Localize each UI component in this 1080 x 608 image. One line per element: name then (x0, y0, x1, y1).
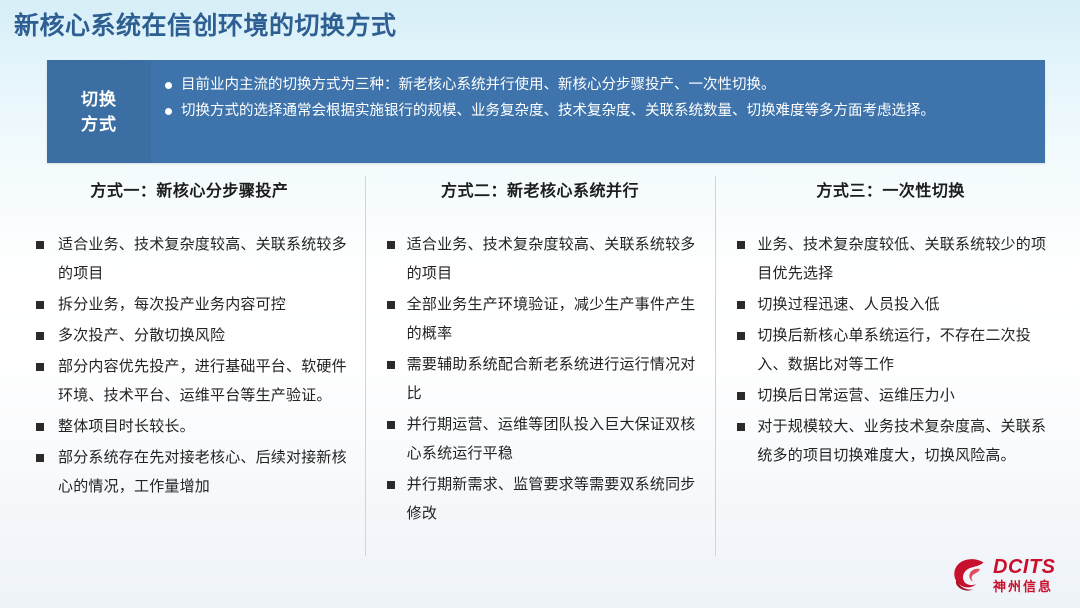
column-method-three: 方式三：一次性切换 业务、技术复杂度较低、关联系统较少的项目优先选择 切换过程迅… (715, 176, 1066, 558)
column-method-one: 方式一：新核心分步骤投产 适合业务、技术复杂度较高、关联系统较多的项目 拆分业务… (14, 176, 365, 558)
callout-label-line2: 方式 (81, 112, 117, 137)
logo-en-text: DCITS (993, 557, 1068, 577)
square-bullet-icon (737, 392, 745, 400)
slide-canvas: 新核心系统在信创环境的切换方式 切换 方式 目前业内主流的切换方式为三种：新老核… (0, 0, 1080, 608)
square-bullet-icon (36, 454, 44, 462)
list-item-text: 整体项目时长较长。 (58, 418, 195, 435)
callout-item-text: 切换方式的选择通常会根据实施银行的规模、业务复杂度、技术复杂度、关联系统数量、切… (181, 99, 1027, 124)
bullet-list: 业务、技术复杂度较低、关联系统较少的项目优先选择 切换过程迅速、人员投入低 切换… (731, 230, 1050, 470)
square-bullet-icon (36, 301, 44, 309)
square-bullet-icon (737, 332, 745, 340)
column-title: 方式一：新核心分步骤投产 (30, 180, 349, 204)
square-bullet-icon (737, 241, 745, 249)
square-bullet-icon (387, 481, 395, 489)
bullet-dot-icon (165, 82, 172, 89)
list-item-text: 多次投产、分散切换风险 (58, 327, 225, 344)
square-bullet-icon (36, 423, 44, 431)
list-item-text: 切换后新核心单系统运行，不存在二次投入、数据比对等工作 (757, 327, 1031, 373)
page-title: 新核心系统在信创环境的切换方式 (14, 9, 397, 43)
list-item: 切换后日常运营、运维压力小 (731, 381, 1050, 410)
callout-item: 切换方式的选择通常会根据实施银行的规模、业务复杂度、技术复杂度、关联系统数量、切… (165, 99, 1027, 124)
list-item: 需要辅助系统配合新老系统进行运行情况对比 (381, 350, 700, 408)
comparison-columns: 方式一：新核心分步骤投产 适合业务、技术复杂度较高、关联系统较多的项目 拆分业务… (14, 176, 1066, 558)
list-item: 并行期新需求、监管要求等需要双系统同步修改 (381, 470, 700, 528)
bullet-list: 适合业务、技术复杂度较高、关联系统较多的项目 拆分业务，每次投产业务内容可控 多… (30, 230, 349, 501)
square-bullet-icon (387, 301, 395, 309)
list-item-text: 切换后日常运营、运维压力小 (757, 387, 955, 404)
list-item: 业务、技术复杂度较低、关联系统较少的项目优先选择 (731, 230, 1050, 288)
square-bullet-icon (387, 241, 395, 249)
list-item-text: 并行期新需求、监管要求等需要双系统同步修改 (407, 476, 696, 522)
list-item: 整体项目时长较长。 (30, 412, 349, 441)
list-item-text: 适合业务、技术复杂度较高、关联系统较多的项目 (58, 236, 347, 282)
list-item: 切换后新核心单系统运行，不存在二次投入、数据比对等工作 (731, 321, 1050, 379)
list-item: 全部业务生产环境验证，减少生产事件产生的概率 (381, 290, 700, 348)
list-item: 适合业务、技术复杂度较高、关联系统较多的项目 (381, 230, 700, 288)
logo-text: DCITS 神州信息 (990, 557, 1068, 593)
square-bullet-icon (36, 241, 44, 249)
list-item: 切换过程迅速、人员投入低 (731, 290, 1050, 319)
list-item: 对于规模较大、业务技术复杂度高、关联系统多的项目切换难度大，切换风险高。 (731, 412, 1050, 470)
list-item-text: 部分系统存在先对接老核心、后续对接新核心的情况，工作量增加 (58, 449, 347, 495)
list-item-text: 需要辅助系统配合新老系统进行运行情况对比 (407, 356, 696, 402)
list-item: 部分内容优先投产，进行基础平台、软硬件环境、技术平台、运维平台等生产验证。 (30, 352, 349, 410)
list-item-text: 拆分业务，每次投产业务内容可控 (58, 296, 286, 313)
bullet-list: 适合业务、技术复杂度较高、关联系统较多的项目 全部业务生产环境验证，减少生产事件… (381, 230, 700, 528)
square-bullet-icon (387, 421, 395, 429)
list-item: 多次投产、分散切换风险 (30, 321, 349, 350)
square-bullet-icon (36, 363, 44, 371)
column-title: 方式三：一次性切换 (731, 180, 1050, 204)
column-method-two: 方式二：新老核心系统并行 适合业务、技术复杂度较高、关联系统较多的项目 全部业务… (365, 176, 716, 558)
square-bullet-icon (36, 332, 44, 340)
list-item-text: 部分内容优先投产，进行基础平台、软硬件环境、技术平台、运维平台等生产验证。 (58, 358, 347, 404)
callout-label: 切换 方式 (47, 60, 151, 163)
list-item-text: 切换过程迅速、人员投入低 (757, 296, 939, 313)
square-bullet-icon (737, 423, 745, 431)
callout-box: 切换 方式 目前业内主流的切换方式为三种：新老核心系统并行使用、新核心分步骤投产… (47, 60, 1045, 163)
bullet-dot-icon (165, 108, 172, 115)
list-item: 部分系统存在先对接老核心、后续对接新核心的情况，工作量增加 (30, 443, 349, 501)
square-bullet-icon (737, 301, 745, 309)
logo-cn-text: 神州信息 (993, 580, 1068, 593)
list-item-text: 全部业务生产环境验证，减少生产事件产生的概率 (407, 296, 696, 342)
list-item: 适合业务、技术复杂度较高、关联系统较多的项目 (30, 230, 349, 288)
callout-label-line1: 切换 (81, 87, 117, 112)
square-bullet-icon (387, 361, 395, 369)
list-item-text: 对于规模较大、业务技术复杂度高、关联系统多的项目切换难度大，切换风险高。 (757, 418, 1046, 464)
company-logo: DCITS 神州信息 (950, 552, 1068, 598)
callout-item-text: 目前业内主流的切换方式为三种：新老核心系统并行使用、新核心分步骤投产、一次性切换… (181, 73, 1027, 98)
callout-body: 目前业内主流的切换方式为三种：新老核心系统并行使用、新核心分步骤投产、一次性切换… (151, 60, 1045, 163)
list-item-text: 并行期运营、运维等团队投入巨大保证双核心系统运行平稳 (407, 416, 696, 462)
list-item: 并行期运营、运维等团队投入巨大保证双核心系统运行平稳 (381, 410, 700, 468)
swirl-icon (950, 556, 990, 594)
list-item-text: 业务、技术复杂度较低、关联系统较少的项目优先选择 (757, 236, 1046, 282)
list-item: 拆分业务，每次投产业务内容可控 (30, 290, 349, 319)
list-item-text: 适合业务、技术复杂度较高、关联系统较多的项目 (407, 236, 696, 282)
column-title: 方式二：新老核心系统并行 (381, 180, 700, 204)
callout-item: 目前业内主流的切换方式为三种：新老核心系统并行使用、新核心分步骤投产、一次性切换… (165, 73, 1027, 98)
